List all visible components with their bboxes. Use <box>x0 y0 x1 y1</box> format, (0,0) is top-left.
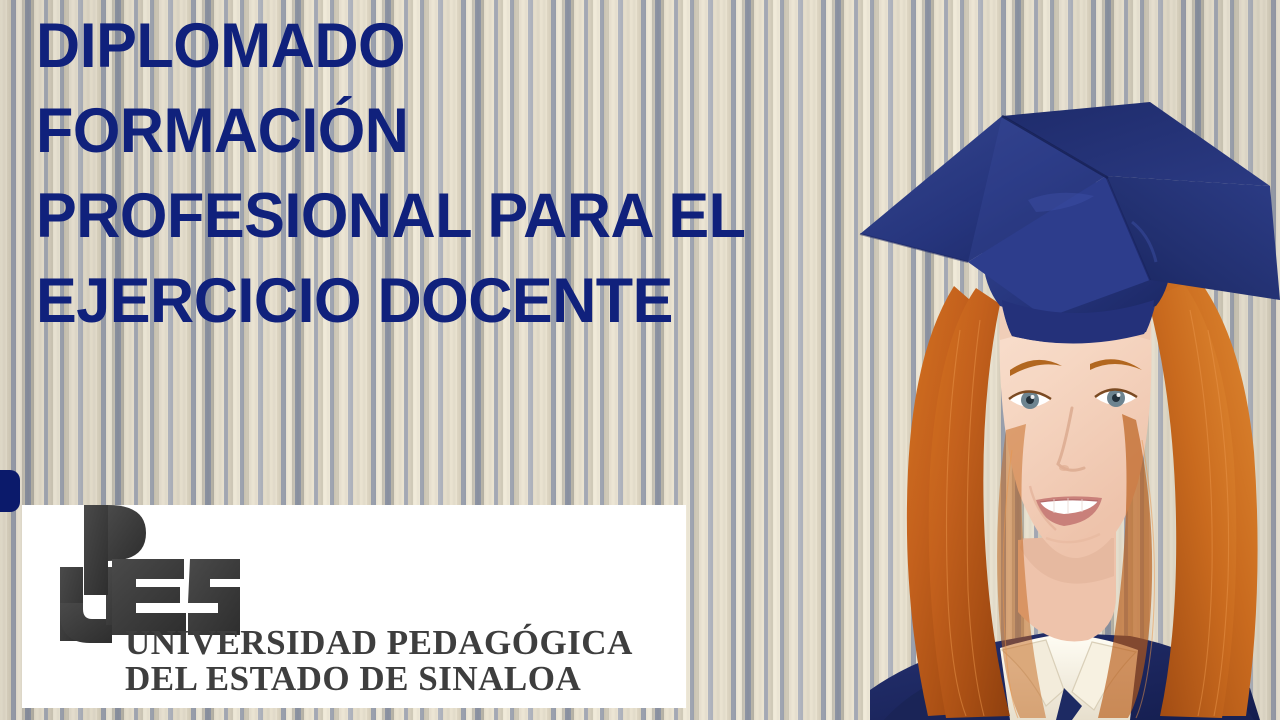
university-name-line-1: UNIVERSIDAD PEDAGÓGICA <box>125 625 633 661</box>
navy-accent-tab <box>0 470 20 512</box>
university-logo-card: UNIVERSIDAD PEDAGÓGICA DEL ESTADO DE SIN… <box>22 505 686 708</box>
university-name: UNIVERSIDAD PEDAGÓGICA DEL ESTADO DE SIN… <box>125 625 633 697</box>
promo-poster: DIPLOMADO FORMACIÓN PROFESIONAL PARA EL … <box>0 0 1280 720</box>
graduate-student-photo <box>850 0 1280 720</box>
graduate-portrait-illustration <box>850 0 1280 720</box>
university-name-line-2: DEL ESTADO DE SINALOA <box>125 661 633 697</box>
